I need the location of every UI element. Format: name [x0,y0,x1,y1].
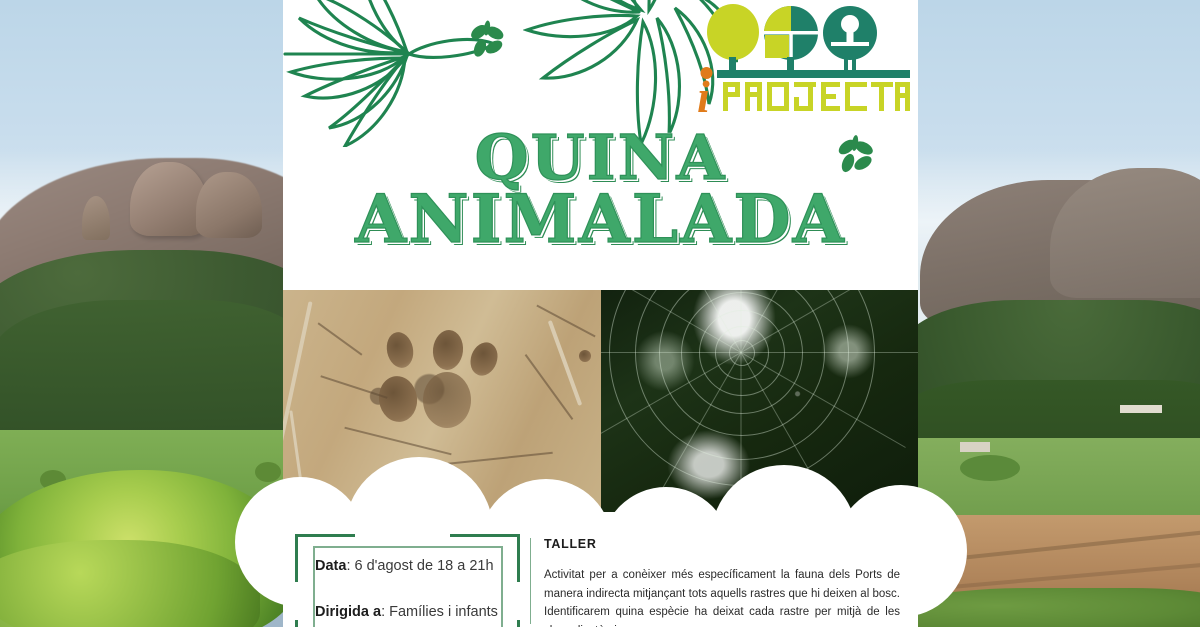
poster-card: i [283,0,918,627]
logo-ground-bar [717,70,910,78]
tree-round-icon [707,4,759,75]
poster-title: QUINA ANIMALADA [283,128,918,251]
description-text: Activitat per a conèixer més específicam… [544,566,900,627]
iprojecta-logo[interactable]: i [695,2,910,114]
logo-letter-i: i [697,67,713,114]
bush-right [960,455,1020,481]
detail-audience-label: Dirigida a [315,604,381,620]
olive-tree [255,462,281,482]
farm-building-right-far [1120,405,1162,413]
info-panel: Data: 6 d'agost de 18 a 21h Dirigida a: … [283,524,918,627]
poster-stage: i [0,0,1200,627]
farm-building-right [960,442,990,452]
title-line-2: ANIMALADA [283,188,918,251]
rock-formation-b [196,172,262,238]
detail-audience-value: : Famílies i infants [381,604,498,620]
logo-wordmark [723,82,910,111]
clover-icon [466,19,508,61]
details-column: Data: 6 d'agost de 18 a 21h Dirigida a: … [283,524,530,627]
description-heading: TALLER [544,537,900,551]
detail-date-label: Data [315,558,346,574]
detail-date-value: : 6 d'agost de 18 a 21h [346,558,493,574]
detail-audience: Dirigida a: Famílies i infants [297,603,530,622]
title-line-1: QUINA [283,128,918,188]
tree-quadrant-icon [764,6,818,75]
column-divider [530,538,531,624]
tree-person-icon [823,6,877,75]
svg-text:i: i [697,71,710,114]
description-column: TALLER Activitat per a conèixer més espe… [530,524,918,627]
detail-date: Data: 6 d'agost de 18 a 21h [297,557,530,576]
